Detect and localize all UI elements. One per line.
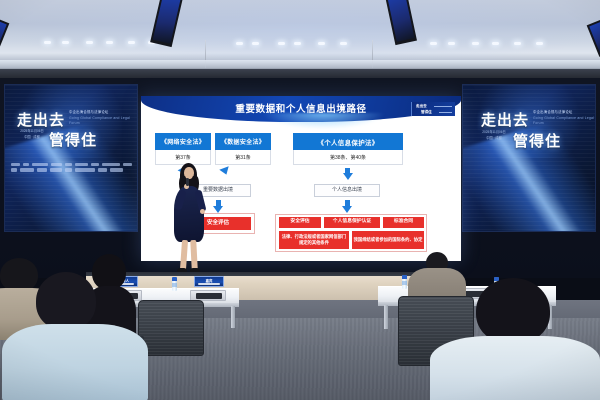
office-chair[interactable]	[138, 300, 204, 356]
ceiling	[0, 0, 600, 68]
led-screen-right: 走出去 管得住 中企出海合规与法律论坛 Going Global Complia…	[462, 84, 596, 232]
led-left-event-name-en: Going Global Compliance and Legal Forum	[69, 116, 137, 126]
sponsor-logo	[20, 168, 34, 171]
ceiling-spotlight	[430, 42, 437, 45]
ceiling-spotlight	[252, 42, 259, 45]
led-right-event-name-en: Going Global Compliance and Legal Forum	[533, 116, 596, 126]
bottle-label	[402, 281, 407, 285]
table-leg	[384, 305, 388, 329]
flow-arrow-down-icon	[219, 166, 231, 176]
law-box-datasecurity: 《数据安全法》	[215, 133, 271, 150]
audience-head	[92, 254, 126, 290]
audience-head	[476, 278, 550, 344]
microphone	[186, 178, 189, 186]
led-right-title-line1: 走出去	[481, 109, 529, 130]
led-left-title-line2: 管得住	[49, 129, 97, 150]
sponsor-logo	[11, 163, 20, 166]
sponsor-logo	[37, 168, 47, 171]
badge-rule	[439, 112, 452, 113]
flow-step-personal-info-export: 个人信息出境	[314, 184, 380, 197]
led-right-title-line2: 管得住	[513, 130, 561, 151]
law-citation-pipl: 第38条、第40条	[293, 154, 403, 161]
law-box-cybersecurity: 《网络安全法》	[155, 133, 211, 150]
sponsor-logo	[110, 168, 123, 171]
ceiling-spotlight	[492, 42, 499, 45]
ceiling-spotlight	[294, 42, 301, 45]
sponsor-logo	[75, 168, 95, 171]
audience-torso	[2, 324, 148, 400]
sponsor-logo	[23, 163, 29, 166]
badge-rule	[434, 106, 452, 107]
flow-arrow-down-icon	[342, 206, 352, 213]
ceiling-spotlight	[536, 42, 543, 45]
flow-option-pi-protection-certification: 个人信息保护认证	[324, 217, 380, 228]
laptop-screen	[196, 293, 222, 299]
ceiling-spotlight	[128, 41, 135, 44]
led-left-title-line1: 走出去	[17, 109, 65, 130]
led-right-date: 2025年11月06日	[477, 130, 511, 135]
led-right-location: 中国 · 成都	[477, 136, 511, 141]
sponsor-logo	[51, 163, 62, 166]
sponsor-logo-row	[11, 163, 133, 172]
scene-root: 走出去 管得住 中企出海合规与法律论坛 Going Global Complia…	[0, 0, 600, 400]
ceiling-spotlight	[44, 41, 51, 44]
flow-option-security-assessment: 安全评估	[279, 217, 321, 228]
law-box-pipl: 《个人信息保护法》	[293, 133, 403, 150]
led-left-location: 中国 · 成都	[15, 135, 49, 140]
flow-arrow-down-icon	[343, 173, 353, 180]
ceiling-spotlight	[448, 42, 455, 45]
sponsor-logo	[65, 163, 72, 166]
slide-badge-line1: 走出去	[416, 104, 427, 109]
slide-badge-line2: 管得住	[421, 110, 432, 115]
ceiling-spotlight	[106, 41, 113, 44]
sponsor-logo	[102, 163, 120, 166]
ceiling-spotlight	[514, 42, 521, 45]
ceiling-spotlight	[278, 42, 285, 45]
audience-head	[36, 272, 96, 330]
flow-arrow-down-icon	[213, 206, 223, 213]
ceiling-spotlight	[340, 42, 347, 45]
bottle-cap	[402, 275, 407, 279]
sponsor-logo	[65, 168, 72, 171]
ceiling-spotlight	[472, 42, 479, 45]
led-grid-texture	[463, 85, 595, 231]
ceiling-spotlight	[236, 42, 243, 45]
law-citation-datasecurity: 第31条	[215, 154, 271, 161]
sponsor-logo	[98, 168, 107, 171]
sponsor-logo	[50, 168, 62, 171]
ceiling-spotlight	[62, 41, 69, 44]
slide-header-shine	[263, 113, 385, 129]
led-right-event-name: 中企出海合规与法律论坛	[533, 110, 595, 115]
led-left-date: 2025年11月06日	[15, 129, 49, 134]
flow-option-international-treaties: 我国缔结或者参加的国际条约、协定	[352, 231, 424, 249]
name-plate: 嘉宾	[194, 276, 224, 287]
speaker-hand	[200, 209, 205, 214]
bottle-label	[172, 283, 177, 287]
ceiling-glow	[0, 0, 600, 68]
water-bottle	[172, 277, 177, 291]
led-left-event-name: 中企出海合规与法律论坛	[69, 110, 135, 115]
ceiling-spotlight	[318, 42, 325, 45]
sponsor-logo	[91, 163, 99, 166]
bottle-cap	[172, 277, 177, 281]
sponsor-logo	[11, 168, 17, 171]
ceiling-spotlight	[86, 41, 93, 44]
law-citation-cybersecurity: 第37条	[155, 154, 211, 161]
led-grid-texture	[5, 85, 137, 231]
sponsor-logo	[75, 163, 88, 166]
flow-option-standard-contract: 标准合同	[383, 217, 424, 228]
sponsor-logo	[123, 163, 132, 166]
flow-option-other-legal-conditions: 法律、行政法规或者国家网信部门规定的其他条件	[279, 231, 349, 249]
table-leg	[231, 306, 235, 328]
name-plate-bar	[198, 283, 219, 285]
audience-head	[0, 258, 38, 292]
water-bottle	[402, 275, 407, 289]
led-screen-left: 走出去 管得住 中企出海合规与法律论坛 Going Global Complia…	[4, 84, 138, 232]
audience-torso	[430, 336, 600, 400]
slide-brand-badge: 走出去 管得住	[411, 102, 455, 116]
sponsor-logo	[32, 163, 48, 166]
